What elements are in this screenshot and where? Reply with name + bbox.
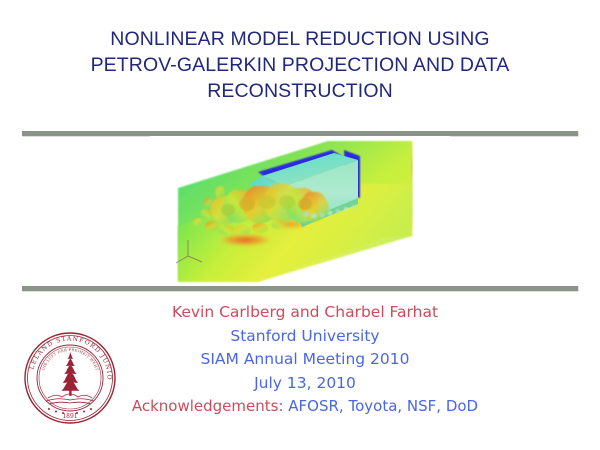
venue-line: SIAM Annual Meeting 2010 [60,348,550,372]
date-line: July 13, 2010 [60,372,550,396]
acknowledgements-line: Acknowledgements: AFOSR, Toyota, NSF, Do… [60,395,550,419]
page-title: NONLINEAR MODEL REDUCTION USING PETROV-G… [40,26,560,104]
cfd-flow-visualization [150,136,450,286]
acknowledgements-label: Acknowledgements: [132,397,284,415]
author-info-block: Kevin Carlberg and Charbel Farhat Stanfo… [60,301,550,419]
affiliation-line: Stanford University [60,325,550,349]
acknowledgements-sponsors: AFOSR, Toyota, NSF, DoD [288,397,478,415]
divider-bottom [22,286,578,291]
title-line-2: PETROV-GALERKIN PROJECTION AND DATA [40,52,560,78]
title-line-1: NONLINEAR MODEL REDUCTION USING [40,26,560,52]
recirculation-hotspot [215,233,275,247]
presentation-title-slide: NONLINEAR MODEL REDUCTION USING PETROV-G… [0,0,600,450]
title-line-3: RECONSTRUCTION [40,78,560,104]
authors-line: Kevin Carlberg and Charbel Farhat [60,301,550,325]
